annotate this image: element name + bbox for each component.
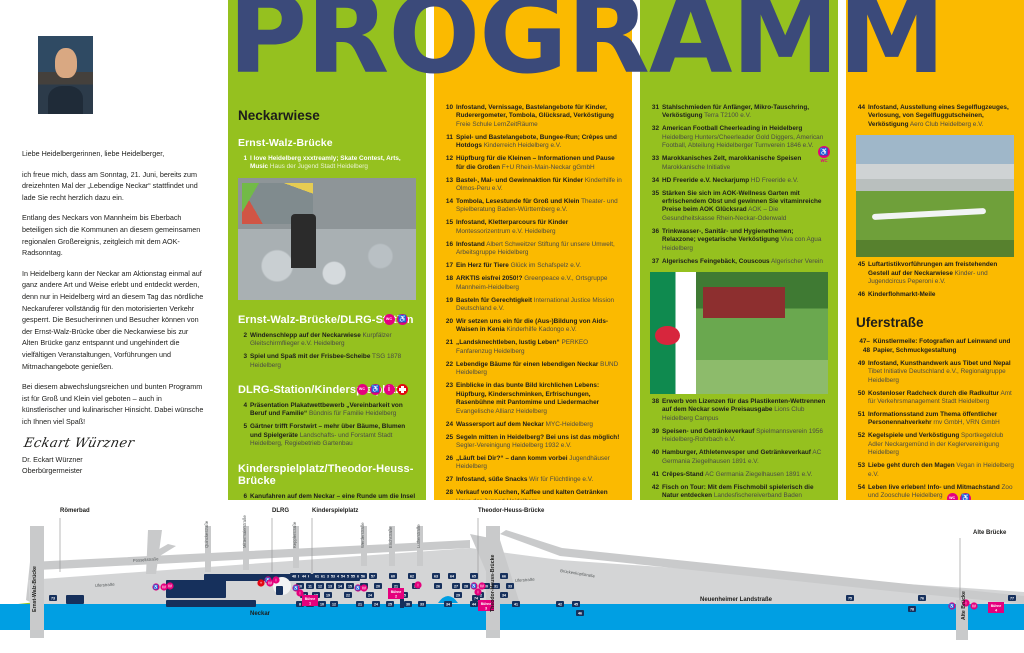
entry-organizer: Glück im Schafspelz e.V. — [509, 262, 581, 269]
entry-text: Stahlschmieden für Anfänger, Mikro-Tausc… — [662, 104, 828, 121]
map-accessible-icon-glyph: ♿ — [355, 586, 361, 591]
map-info-icon-glyph: i — [300, 591, 301, 596]
wc-label: WC — [818, 159, 830, 163]
map-bridge-label: Ernst-Walz-Brücke — [32, 566, 38, 612]
entry-number: 19 — [444, 297, 456, 314]
map-stand-number: 63 — [434, 574, 438, 578]
entry-text: Fisch on Tour: Mit dem Fischmobil spiele… — [662, 484, 828, 500]
program-entry: 20Wir setzen uns ein für die (Aus-)Bildu… — [444, 318, 622, 335]
map-stand-number: 76 — [920, 596, 924, 600]
program-entry: 25Segeln mitten in Heidelberg? Bei uns i… — [444, 434, 622, 451]
signatory-role: Oberbürgermeister — [22, 466, 206, 476]
map-stand-number: 73 — [51, 596, 55, 600]
entry-number: 3 — [238, 353, 250, 370]
entry-organizer: Aero Club Heidelberg e.V. — [908, 121, 983, 128]
map-stand-number: 33 — [420, 602, 424, 606]
map-first-aid-icon-glyph: + — [260, 581, 263, 586]
entry-number: 41 — [650, 471, 662, 479]
map-stand-number: 19 — [326, 593, 330, 597]
entry-text: Informationsstand zum Thema öffentlicher… — [868, 411, 1014, 428]
first-aid-icon — [397, 384, 408, 395]
map-stand-number: 26 — [436, 584, 440, 588]
entry-text: Infostand, süße Snacks Wir für Flüchtlin… — [456, 476, 622, 484]
letter-paragraph-4: Bei diesem abwechslungsreichen und bunte… — [22, 381, 206, 427]
program-poster: Liebe Heidelbergerinnen, liebe Heidelber… — [0, 0, 1024, 653]
entry-title: Lebendige Bäume für einen lebendigen Nec… — [456, 361, 598, 368]
entry-organizer: Haus der Jugend Stadt Heidelberg — [268, 163, 368, 170]
entry-organizer: HD Freeride e.V. — [749, 177, 798, 184]
wc-icon: WC — [357, 384, 368, 395]
stand-block-1 — [166, 580, 226, 598]
program-entry: 19Basteln für Gerechtigkeit Internationa… — [444, 297, 622, 314]
entry-number: 26 — [444, 455, 456, 472]
map-bridge-label: Theodor-Heuss-Brücke — [490, 555, 496, 612]
entry-title: American Football Cheerleading in Heidel… — [662, 125, 802, 132]
program-entry: 36Trinkwasser-, Sanitär- und Hygienethem… — [650, 228, 828, 253]
program-entry: 26„Läuft bei Dir?“ – dann komm vorbei Ju… — [444, 455, 622, 472]
program-entry: 31Stahlschmieden für Anfänger, Mikro-Tau… — [650, 104, 828, 121]
entry-text: Leben live erleben! Info- und Mitmachsta… — [868, 484, 1014, 500]
map-stage-label: Bühne — [991, 604, 1002, 608]
entry-title: Crêpes-Stand — [662, 471, 704, 478]
entry-title: Leben live erleben! Info- und Mitmachsta… — [868, 484, 1000, 491]
entry-organizer: Algerischer Verein — [770, 258, 823, 265]
entry-text: Basteln für Gerechtigkeit International … — [456, 297, 622, 314]
stand-block-ernstwalz — [66, 595, 84, 604]
program-entry: 45Luftartistikvorführungen am freistehen… — [856, 261, 1014, 286]
entry-number: 24 — [444, 421, 456, 429]
entry-organizer: rnv GmbH, VRN GmbH — [932, 419, 1000, 426]
map-stage-number: 1 — [309, 601, 311, 605]
entry-text: Marokkanisches Zelt, marokkanische Speis… — [662, 155, 828, 172]
map-accessible-icon-glyph: ♿ — [153, 585, 159, 590]
entry-number: 51 — [856, 411, 868, 428]
map-stand-number: 34 — [446, 602, 450, 606]
entry-text: Einblicke in das bunte Bild kirchlichen … — [456, 382, 622, 416]
entry-organizer: Wir für Flüchtlinge e.V. — [527, 476, 593, 483]
entry-number: 35 — [650, 190, 662, 224]
map-street-label: Erichstraße — [388, 526, 393, 548]
map-stand-number: 55 — [351, 574, 355, 578]
map-stand-number: 20 — [376, 584, 380, 588]
entry-number: 36 — [650, 228, 662, 253]
entry-number: 37 — [650, 258, 662, 266]
map-stand-number: 22 — [346, 593, 350, 597]
entry-title: Einblicke in das bunte Bild kirchlichen … — [456, 382, 599, 406]
entry-text: Kegelspiele und Verköstigung Sportkegelc… — [868, 432, 1014, 457]
entry-text: Infostand, Kletterparcours für Kinder Mo… — [456, 219, 622, 236]
program-entry: 18ARKTIS eisfrei 2050!? Greenpeace e.V.,… — [444, 275, 622, 292]
entry-text: Hamburger, Athletenvesper und Getränkeve… — [662, 449, 828, 466]
map-street-label: Mittermaierstraße — [242, 515, 247, 548]
entry-number: 31 — [650, 104, 662, 121]
program-entry: 11Spiel- und Bastelangebote, Bungee-Run;… — [444, 134, 622, 151]
entry-number: 1 — [238, 155, 250, 172]
entry-title: Infostand, süße Snacks — [456, 476, 527, 483]
entry-title: Hamburger, Athletenvesper und Getränkeve… — [662, 449, 811, 456]
map-landmark-label: Alte Brücke — [973, 530, 1007, 536]
entry-title: Infostand, Vernissage, Bastelangebote fü… — [456, 104, 614, 119]
map-stand-number: 41 — [514, 602, 518, 606]
map-street-label: Lutherstraße — [416, 524, 421, 548]
entry-number: 11 — [444, 134, 456, 151]
river-neckar — [0, 604, 1024, 630]
program-entry: 13Bastel-, Mal- und Gewinnaktion für Kin… — [444, 177, 622, 194]
market-photo — [650, 272, 828, 394]
entry-title: Ein Herz für Tiere — [456, 262, 509, 269]
map-stand-number: 65 — [472, 574, 476, 578]
entry-title: Kegelspiele und Verköstigung — [868, 432, 959, 439]
poster-title-band: PROGRAMM — [0, 0, 1024, 104]
entry-title: Kostenloser Radcheck durch die Radkultur — [868, 390, 999, 397]
greeting-letter: Liebe Heidelbergerinnen, liebe Heidelber… — [22, 148, 206, 427]
entry-title: Kinderflohmarkt-Meile — [868, 291, 935, 298]
entry-title: Tombola, Lesestunde für Groß und Klein — [456, 198, 579, 205]
entry-title: Bastel-, Mal- und Gewinnaktion für Kinde… — [456, 177, 583, 184]
entry-number: 13 — [444, 177, 456, 194]
entry-text: Tombola, Lesestunde für Groß und Klein T… — [456, 198, 622, 215]
entry-title: Infostand, Kletterparcours für Kinder — [456, 219, 568, 226]
entry-text: American Football Cheerleading in Heidel… — [662, 125, 828, 150]
entry-text: Wir setzen uns ein für die (Aus-)Bildung… — [456, 318, 622, 335]
program-entry: 32American Football Cheerleading in Heid… — [650, 125, 828, 150]
entry-number: 22 — [444, 361, 456, 378]
entry-number: 50 — [856, 390, 868, 407]
entry-title: Liebe geht durch den Magen — [868, 462, 955, 469]
map-street-label: Neckar — [250, 611, 271, 617]
map-stand-number: 60 — [391, 574, 395, 578]
entry-number: 42 — [650, 484, 662, 500]
entry-number: 4 — [238, 402, 250, 419]
map-stage-number: 3 — [485, 606, 487, 610]
entry-number: 52 — [856, 432, 868, 457]
map-stand-number: 25 — [388, 602, 392, 606]
map-stand-number: 74 — [474, 596, 478, 600]
map-stand-number: 12 — [332, 602, 336, 606]
entry-organizer: Montessorizentrum e.V. Heidelberg — [456, 228, 556, 235]
entry-text: Infostand Albert Schweitzer Stiftung für… — [456, 241, 622, 258]
entry-title: Trinkwasser-, Sanitär- und Hygienethemen… — [662, 228, 793, 243]
entry-number: 2 — [238, 332, 250, 349]
entry-text: Wassersport auf dem Neckar MYC-Heidelber… — [456, 421, 622, 429]
program-entry: 27Infostand, süße Snacks Wir für Flüchtl… — [444, 476, 622, 484]
entry-text: Verkauf von Kuchen, Kaffee und kalten Ge… — [456, 489, 622, 500]
map-stand-number: 8 — [299, 602, 301, 606]
map-stand-number: 12 — [318, 584, 322, 588]
entry-text: Präsentation Plakatwettbewerb „Vereinbar… — [250, 402, 416, 419]
map-info-icon-glyph: i — [276, 578, 277, 583]
entry-text: Erwerb von Lizenzen für das Plastikenten… — [662, 398, 828, 423]
map-stand-number: 66 — [502, 574, 506, 578]
entry-number: 28 — [444, 489, 456, 500]
program-entry: 16Infostand Albert Schweitzer Stiftung f… — [444, 241, 622, 258]
program-entry: 5Gärtner trifft Forstwirt – mehr über Bä… — [238, 423, 416, 448]
program-entry: 53Liebe geht durch den Magen Vegan in He… — [856, 462, 1014, 479]
map-stand-number: 48 — [292, 574, 296, 578]
entry-number: 27 — [444, 476, 456, 484]
entry-organizer: Freie Schule LernZeitRäume — [456, 121, 538, 128]
accessible-icon: ♿ — [397, 314, 408, 325]
entry-number: 6 — [238, 493, 250, 500]
map-stand-number: 57 — [371, 574, 375, 578]
entry-text: Bastel-, Mal- und Gewinnaktion für Kinde… — [456, 177, 622, 194]
glider-photo — [856, 135, 1014, 257]
map-stand-number: 78 — [910, 607, 914, 611]
map-accessible-icon-glyph: ♿ — [471, 584, 477, 589]
map-stand-number: 10 — [320, 602, 324, 606]
entry-number: 33 — [650, 155, 662, 172]
program-entry: 10Infostand, Vernissage, Bastelangebote … — [444, 104, 622, 129]
entry-number: 32 — [650, 125, 662, 150]
entry-number: 17 — [444, 262, 456, 270]
program-entry: 24Wassersport auf dem Neckar MYC-Heidelb… — [444, 421, 622, 429]
entry-text: Windenschlepp auf der Neckarwiese Kurpfä… — [250, 332, 416, 349]
entry-number: 44 — [856, 104, 868, 129]
program-entry: 35Stärken Sie sich im AOK-Wellness Garte… — [650, 190, 828, 224]
letter-paragraph-3: In Heidelberg kann der Neckar am Aktions… — [22, 268, 206, 372]
wc-facility-marker: ♿WC — [818, 146, 830, 158]
entry-number: 18 — [444, 275, 456, 292]
entry-organizer: F+U Rhein-Main-Neckar gGmbH — [500, 164, 595, 171]
entry-organizer: Bündnis für Familie Heidelberg — [307, 410, 396, 417]
map-stand-number: 33 — [508, 584, 512, 588]
map-street-label: Neuenheimer Landstraße — [700, 597, 773, 603]
entry-facility-icons: WC♿ — [947, 493, 972, 500]
map-stand-number: 46 — [578, 611, 582, 615]
entry-text: Künstlermeile: Fotografien auf Leinwand … — [873, 338, 1014, 355]
accessible-icon: ♿ — [960, 493, 971, 500]
program-entry: 44Infostand, Ausstellung eines Segelflug… — [856, 104, 1014, 129]
program-entry: 38Erwerb von Lizenzen für das Plastikent… — [650, 398, 828, 423]
entry-text: Trinkwasser-, Sanitär- und Hygienethemen… — [662, 228, 828, 253]
entry-number: 47–48 — [856, 338, 873, 355]
program-entry: 41Crêpes-Stand AC Germania Ziegelhausen … — [650, 471, 828, 479]
entry-number: 15 — [444, 219, 456, 236]
map-stand-number: 28 — [464, 584, 468, 588]
entry-text: Infostand, Vernissage, Bastelangebote fü… — [456, 104, 622, 129]
entry-text: „Läuft bei Dir?“ – dann komm vorbei Juge… — [456, 455, 622, 472]
section-heading: Kinderspielplatz/Theodor-Heuss-Brücke — [238, 463, 416, 487]
program-entry: 21„Landsknechtleben, lustig Leben“ PERKE… — [444, 339, 622, 356]
program-entry: 22Lebendige Bäume für einen lebendigen N… — [444, 361, 622, 378]
entry-organizer: Kinderreich Heidelberg e.V. — [482, 142, 561, 149]
entry-number: 54 — [856, 484, 868, 500]
map-stand-number: 77 — [1010, 596, 1014, 600]
entry-text: Stärken Sie sich im AOK-Wellness Garten … — [662, 190, 828, 224]
stand-block-b — [276, 586, 283, 595]
entry-title: Segeln mitten in Heidelberg? Bei uns ist… — [456, 434, 619, 441]
map-stand-number: 61 — [315, 574, 319, 578]
map-stand-number: 27 — [454, 584, 458, 588]
entry-text: Spiel und Spaß mit der Frisbee-Scheibe T… — [250, 353, 416, 370]
map-stand-number: 44 — [472, 602, 476, 606]
entry-title: Stärken Sie sich im AOK-Wellness Garten … — [662, 190, 821, 214]
map-stand-number: 45 — [574, 602, 578, 606]
map-landmark-label: Theodor-Heuss-Brücke — [478, 508, 545, 514]
event-map: 4844615354555648446153545556576062636465… — [0, 500, 1024, 653]
program-entry: 12Hüpfburg für die Kleinen – Information… — [444, 155, 622, 172]
entry-text: Segeln mitten in Heidelberg? Bei uns ist… — [456, 434, 622, 451]
section-facility-icons: WC♿ — [384, 314, 409, 325]
program-entry: 14Tombola, Lesestunde für Groß und Klein… — [444, 198, 622, 215]
entry-text: Liebe geht durch den Magen Vegan in Heid… — [868, 462, 1014, 479]
letter-paragraph-1: ich freue mich, dass am Sonntag, 21. Jun… — [22, 169, 206, 204]
entry-title: Basteln für Gerechtigkeit — [456, 297, 532, 304]
program-entry: 40Hamburger, Athletenvesper und Getränke… — [650, 449, 828, 466]
entry-text: Lebendige Bäume für einen lebendigen Nec… — [456, 361, 622, 378]
program-entry: 50Kostenloser Radcheck durch die Radkult… — [856, 390, 1014, 407]
entry-title: „Landsknechtleben, lustig Leben“ — [456, 339, 560, 346]
program-entry: 6Kanufahren auf dem Neckar – eine Runde … — [238, 493, 416, 500]
entry-text: Infostand, Kunsthandwerk aus Tibet und N… — [868, 360, 1014, 385]
map-info-icon-glyph: i — [478, 590, 479, 595]
entry-title: Algerisches Feingebäck, Couscous — [662, 258, 770, 265]
entry-number: 40 — [650, 449, 662, 466]
letter-paragraph-2: Entlang des Neckars von Mannheim bis Ebe… — [22, 212, 206, 258]
signature: Eckart Würzner — [22, 436, 207, 451]
map-stand-number: 30 — [406, 602, 410, 606]
map-stand-number: 75 — [848, 596, 852, 600]
entry-number: 49 — [856, 360, 868, 385]
map-stand-number: 44 — [302, 574, 306, 578]
program-entry: 46Kinderflohmarkt-Meile — [856, 291, 1014, 299]
entry-title: Infostand, Kunsthandwerk aus Tibet und N… — [868, 360, 1011, 367]
map-stage-label: Bühne — [391, 590, 402, 594]
entry-number: 45 — [856, 261, 868, 286]
entry-text: Luftartistikvorführungen am freistehende… — [868, 261, 1014, 286]
entry-organizer: Tibet Initiative Deutschland e.V., Regio… — [868, 368, 1006, 383]
map-stand-number: 64 — [450, 574, 454, 578]
program-entry: 28Verkauf von Kuchen, Kaffee und kalten … — [444, 489, 622, 500]
entry-number: 23 — [444, 382, 456, 416]
entry-title: Infostand — [456, 241, 485, 248]
skate-contest-photo — [238, 178, 416, 300]
section-heading: Ernst-Walz-Brücke/DLRG-StationWC♿ — [238, 314, 416, 326]
map-svg: 4844615354555648446153545556576062636465… — [0, 500, 1024, 653]
entry-text: Infostand, Ausstellung eines Segelflugze… — [868, 104, 1014, 129]
map-street-label: Kepplerstraße — [292, 521, 297, 548]
entry-organizer: Evangelische Allianz Heidelberg — [456, 408, 547, 415]
entry-text: Crêpes-Stand AC Germania Ziegelhausen 18… — [662, 471, 828, 479]
entry-number: 34 — [650, 177, 662, 185]
entry-text: Algerisches Feingebäck, Couscous Algeris… — [662, 258, 828, 266]
entry-number: 10 — [444, 104, 456, 129]
map-stand-number: 34 — [502, 593, 506, 597]
entry-organizer: MYC-Heidelberg — [544, 421, 593, 428]
entry-text: I love Heidelberg xxxtreamly; Skate Cont… — [250, 155, 416, 172]
area-title-neckarwiese: Neckarwiese — [238, 108, 416, 123]
wc-icon: WC — [384, 314, 395, 325]
program-entry: 4Präsentation Plakatwettbewerb „Vereinba… — [238, 402, 416, 419]
stand-strip-2 — [166, 600, 256, 607]
map-landmark-label: DLRG — [272, 508, 289, 514]
program-entry: 2Windenschlepp auf der Neckarwiese Kurpf… — [238, 332, 416, 349]
program-entry: 51Informationsstand zum Thema öffentlich… — [856, 411, 1014, 428]
entry-organizer: Kinderhilfe Kadongo e.V. — [505, 326, 577, 333]
map-street-label: Werderstraße — [360, 522, 365, 548]
entry-text: Kanufahren auf dem Neckar – eine Runde u… — [250, 493, 416, 500]
section-heading: Ernst-Walz-Brücke — [238, 137, 416, 149]
map-stand-number: 24 — [368, 593, 372, 597]
section-facility-icons: WC♿i — [357, 384, 409, 395]
signatory-name: Dr. Eckart Würzner — [22, 455, 206, 465]
map-stand-number: 62 — [410, 574, 414, 578]
entry-title: „Läuft bei Dir?“ – dann komm vorbei — [456, 455, 568, 462]
program-entry: 15Infostand, Kletterparcours für Kinder … — [444, 219, 622, 236]
map-stand-number: 21 — [358, 602, 362, 606]
map-stage-label: Bühne — [305, 597, 316, 601]
map-bridge-label: Alte Brücke — [961, 591, 967, 620]
program-entry: 39Speisen- und Getränkeverkauf Spielmann… — [650, 428, 828, 445]
program-entry: 33Marokkanisches Zelt, marokkanische Spe… — [650, 155, 828, 172]
map-stand-number: 56 — [361, 574, 365, 578]
entry-text: Kostenloser Radcheck durch die Radkultur… — [868, 390, 1014, 407]
entry-organizer: Segler-Vereinigung Heidelberg 1932 e.V. — [456, 442, 572, 449]
map-stand-number: 53 — [331, 574, 335, 578]
entry-title: HD Freeride e.V. Neckarjump — [662, 177, 749, 184]
entry-number: 16 — [444, 241, 456, 258]
program-entry: 49Infostand, Kunsthandwerk aus Tibet und… — [856, 360, 1014, 385]
entry-organizer: Marokkanische Initiative — [662, 164, 730, 171]
map-stand-number: 24 — [374, 602, 378, 606]
entry-title: Wassersport auf dem Neckar — [456, 421, 544, 428]
accessible-icon: ♿ — [370, 384, 381, 395]
entry-text: Hüpfburg für die Kleinen – Informationen… — [456, 155, 622, 172]
program-entry: 42Fisch on Tour: Mit dem Fischmobil spie… — [650, 484, 828, 500]
entry-title: Windenschlepp auf der Neckarwiese — [250, 332, 361, 339]
wc-icon: ♿WC — [818, 146, 830, 158]
map-stand-number: 15 — [348, 584, 352, 588]
entry-text: „Landsknechtleben, lustig Leben“ PERKEO … — [456, 339, 622, 356]
entry-text: Speisen- und Getränkeverkauf Spielmannsv… — [662, 428, 828, 445]
entry-text: Kinderflohmarkt-Meile — [868, 291, 1014, 299]
entry-number: 25 — [444, 434, 456, 451]
entry-number: 21 — [444, 339, 456, 356]
entry-title: Verkauf von Kuchen, Kaffee und kalten Ge… — [456, 489, 608, 496]
entry-text: Ein Herz für Tiere Glück im Schafspelz e… — [456, 262, 622, 270]
wc-icon: WC — [947, 493, 958, 500]
page-title: PROGRAMM — [228, 0, 944, 88]
map-stand-number: 42 — [558, 602, 562, 606]
map-stage-number: 2 — [395, 594, 397, 598]
entry-organizer: Heidelberg Hunters/Cheerleader Gold Digg… — [662, 134, 823, 149]
entry-number: 14 — [444, 198, 456, 215]
entry-title: ARKTIS eisfrei 2050!? — [456, 275, 522, 282]
program-entry: 1I love Heidelberg xxxtreamly; Skate Con… — [238, 155, 416, 172]
program-entry: 52Kegelspiele und Verköstigung Sportkege… — [856, 432, 1014, 457]
map-stand-number: 14 — [338, 584, 342, 588]
entry-number: 20 — [444, 318, 456, 335]
program-entry: 23Einblicke in das bunte Bild kirchliche… — [444, 382, 622, 416]
entry-number: 38 — [650, 398, 662, 423]
map-landmark-label: Römerbad — [60, 508, 90, 514]
map-stand-number: 21 — [394, 584, 398, 588]
entry-title: Marokkanisches Zelt, marokkanische Speis… — [662, 155, 801, 162]
entry-number: 39 — [650, 428, 662, 445]
entry-number: 12 — [444, 155, 456, 172]
entry-title: Künstlermeile: Fotografien auf Leinwand … — [873, 338, 1010, 353]
program-entry: 17Ein Herz für Tiere Glück im Schafspelz… — [444, 262, 622, 270]
area-title-uferstrasse: Uferstraße — [856, 315, 1014, 330]
entry-number: 46 — [856, 291, 868, 299]
map-info-icon-glyph: i — [418, 583, 419, 588]
map-stand-number: 11 — [308, 584, 312, 588]
program-entry: 37Algerisches Feingebäck, Couscous Alger… — [650, 258, 828, 266]
map-stand-number: 13 — [328, 584, 332, 588]
program-entry: 3Spiel und Spaß mit der Frisbee-Scheibe … — [238, 353, 416, 370]
map-landmark-label: Kinderspielplatz — [312, 508, 358, 514]
section-heading: DLRG-Station/KinderspielplatzWC♿i — [238, 384, 416, 396]
